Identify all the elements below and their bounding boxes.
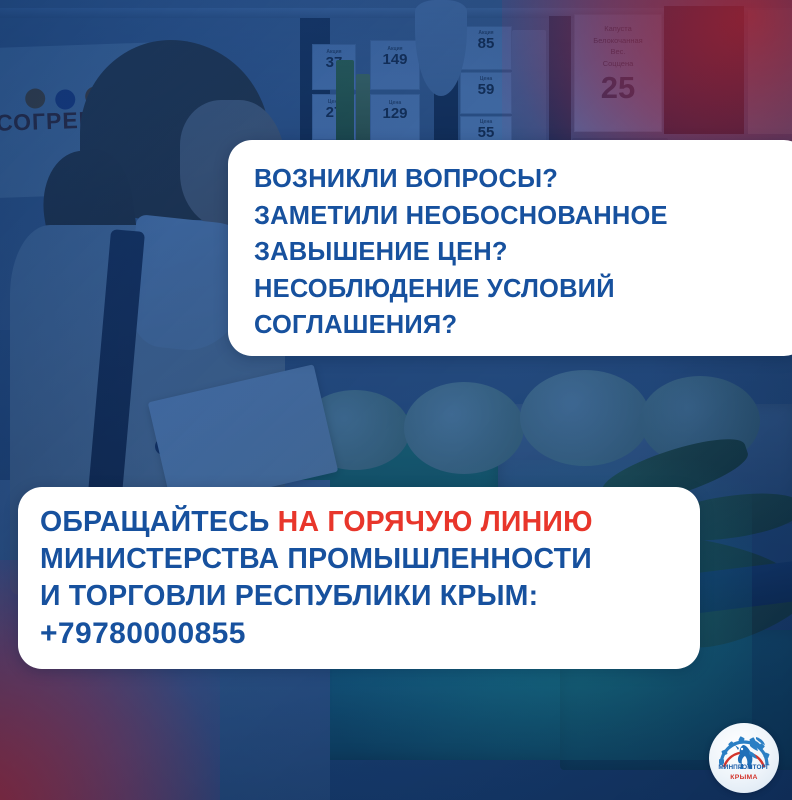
griffin-icon [709, 723, 779, 793]
background-photo: Акция 37 Цена 27 Акция 149 Цена 129 Акци… [0, 0, 792, 800]
hotline-line-1: ОБРАЩАЙТЕСЬ НА ГОРЯЧУЮ ЛИНИЮ [40, 504, 678, 541]
questions-line-3: ЗАВЫШЕНИЕ ЦЕН? [254, 234, 782, 271]
questions-line-2: ЗАМЕТИЛИ НЕОБОСНОВАННОЕ [254, 198, 782, 235]
logo-subname: КРЫМА [709, 775, 779, 782]
questions-line-4: НЕСОБЛЮДЕНИЕ УСЛОВИЙ [254, 271, 782, 308]
questions-card: ВОЗНИКЛИ ВОПРОСЫ? ЗАМЕТИЛИ НЕОБОСНОВАННО… [228, 140, 792, 356]
promo-poster: Акция 37 Цена 27 Акция 149 Цена 129 Акци… [0, 0, 792, 800]
questions-line-1: ВОЗНИКЛИ ВОПРОСЫ? [254, 161, 782, 198]
hotline-accent: НА ГОРЯЧУЮ ЛИНИЮ [278, 506, 593, 538]
questions-line-5: СОГЛАШЕНИЯ? [254, 307, 782, 344]
hotline-line-3: И ТОРГОВЛИ РЕСПУБЛИКИ КРЫМ: [40, 578, 678, 615]
hotline-line-2: МИНИСТЕРСТВА ПРОМЫШЛЕННОСТИ [40, 541, 678, 578]
minpromtorg-logo[interactable]: МИНПРОМТОРГ КРЫМА [709, 723, 779, 793]
vignette-overlay [0, 0, 792, 800]
hotline-prefix: ОБРАЩАЙТЕСЬ [40, 506, 278, 538]
logo-name: МИНПРОМТОРГ [709, 765, 779, 771]
hotline-phone-number[interactable]: +79780000855 [40, 615, 678, 653]
hotline-card: ОБРАЩАЙТЕСЬ НА ГОРЯЧУЮ ЛИНИЮ МИНИСТЕРСТВ… [18, 487, 700, 669]
